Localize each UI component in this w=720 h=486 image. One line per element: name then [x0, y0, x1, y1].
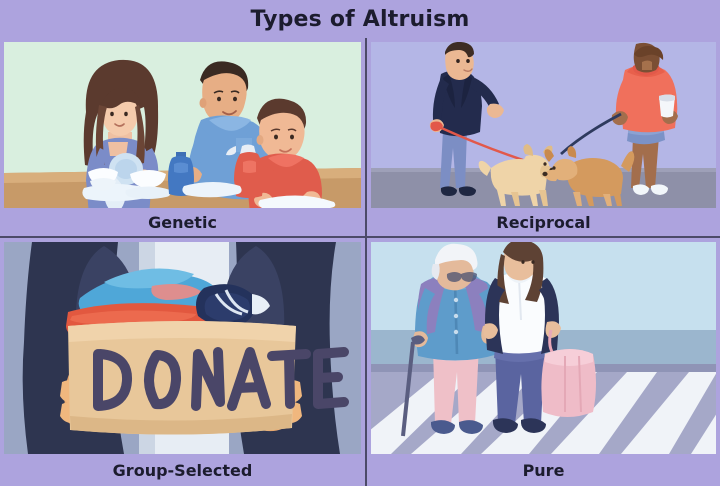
panel-genetic-caption: Genetic: [0, 208, 365, 236]
panel-group-selected[interactable]: Group-Selected: [0, 238, 365, 486]
page-title: Types of Altruism: [250, 7, 469, 32]
dog-walkers-illustration: [371, 42, 716, 208]
panel-genetic-illustration: [0, 38, 365, 208]
caption-label-reciprocal: Reciprocal: [496, 213, 590, 232]
caption-label-pure: Pure: [523, 461, 565, 480]
panel-reciprocal-illustration: [367, 38, 720, 208]
caption-label-group-selected: Group-Selected: [113, 461, 253, 480]
panel-genetic[interactable]: Genetic: [0, 38, 365, 236]
family-washing-dishes-illustration: [4, 42, 361, 208]
caption-label-genetic: Genetic: [148, 213, 217, 232]
panel-pure[interactable]: Pure: [367, 238, 720, 486]
title-bar: Types of Altruism: [0, 0, 720, 38]
panel-grid: Genetic: [0, 38, 720, 486]
panel-reciprocal[interactable]: Reciprocal: [367, 38, 720, 236]
panel-reciprocal-caption: Reciprocal: [367, 208, 720, 236]
panel-pure-illustration: [367, 238, 720, 454]
panel-group-selected-caption: Group-Selected: [0, 454, 365, 486]
infographic-root: Types of Altruism: [0, 0, 720, 486]
crosswalk-help-illustration: [371, 242, 716, 454]
panel-group-selected-illustration: [0, 238, 365, 454]
donation-box-illustration: [4, 242, 361, 454]
panel-pure-caption: Pure: [367, 454, 720, 486]
